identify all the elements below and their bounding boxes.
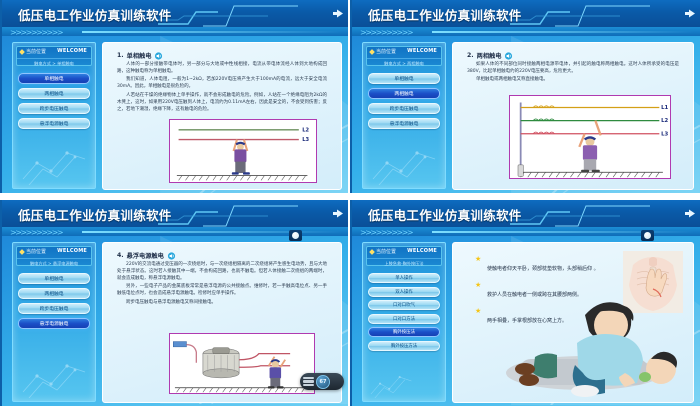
wire-label-l2: L2	[661, 118, 669, 124]
sidebar-item-floating-source[interactable]: 悬浮电源触电	[368, 118, 440, 129]
speaker-icon[interactable]	[154, 52, 163, 60]
section-number: 1.	[117, 52, 124, 59]
step-text: 使触电者仰天平卧，颈部枕垫软物，头部稍后仰 。	[487, 266, 599, 272]
back-arrow-icon[interactable]	[332, 8, 344, 19]
page-title: 低压电工作业仿真训练软件	[368, 5, 522, 24]
app-window-two-phase: 低压电工作业仿真训练软件 >>>>>>>>>> 当前位置	[350, 0, 700, 193]
sidebar-item-single-operator[interactable]: 单人操作	[368, 273, 440, 283]
strip-line-decoration	[82, 231, 342, 233]
power-plug	[173, 342, 186, 347]
app-window-cpr: 低压电工作业仿真训练软件 >>>>>>>>>> 当前位置	[350, 200, 700, 406]
rescuer-figure	[571, 302, 643, 397]
back-arrow-icon[interactable]	[332, 208, 344, 219]
sidebar: 当前位置 WELCOME 上肢急救-胸外按压法 单人操作 双人操作 口对口吹气 …	[362, 242, 446, 402]
sidebar-menu: 单相触电 两相触电 跨步电压触电 悬浮电源触电	[18, 73, 90, 133]
sidebar-menu: 单相触电 两相触电 跨步电压触电 悬浮电源触电	[18, 273, 90, 333]
panel-cell-4: 低压电工作业仿真训练软件 >>>>>>>>>> 当前位置	[350, 200, 700, 413]
sidebar-circuit-decoration	[17, 133, 93, 185]
panel-cell-1: 低压电工作业仿真训练软件 >>>>>>>>>> 当前位置	[0, 0, 350, 200]
header-circuit-lines	[500, 200, 700, 227]
sidebar-item-single-phase[interactable]: 单相触电	[368, 73, 440, 84]
floating-source-diagram	[170, 334, 314, 393]
location-label: 当前位置	[376, 248, 396, 255]
page-title: 低压电工作业仿真训练软件	[18, 205, 172, 224]
sidebar-menu: 单相触电 两相触电 跨步电压触电 悬浮电源触电	[368, 73, 440, 133]
back-arrow-icon[interactable]	[684, 208, 696, 219]
breadcrumb: 触电方式 > 悬浮电源触电	[17, 258, 91, 267]
person-figure	[579, 121, 600, 173]
sidebar: 当前位置 WELCOME 触电方式 > 悬浮电源触电 单相触电 两相触电 跨步电…	[12, 242, 96, 402]
window-header: 低压电工作业仿真训练软件	[2, 200, 348, 227]
wire-label-l1: L1	[661, 105, 669, 111]
location-box: 当前位置 WELCOME 触电方式 > 两相触电	[366, 46, 442, 66]
header-circuit-lines	[148, 0, 348, 27]
sidebar-item-chest-compression-method[interactable]: 胸外按压方法	[368, 341, 440, 351]
welcome-label: WELCOME	[57, 248, 87, 254]
paragraph: 我们知道，人体电阻，一般为1~2kΩ，若加220V电压将产生大于100mA的电流…	[117, 77, 327, 91]
sidebar-item-two-phase[interactable]: 两相触电	[18, 288, 90, 299]
person-figure	[232, 140, 250, 175]
paragraph: 另外，一些电子产品的金属底板常常是悬浮电源的公共接触点。维修时，若一手触高电位点…	[117, 284, 327, 298]
sidebar-item-mouth-to-mouth[interactable]: 口对口吹气	[368, 300, 440, 310]
sidebar-item-chest-compression[interactable]: 胸外按压法	[368, 327, 440, 337]
sidebar-item-two-operator[interactable]: 双人操作	[368, 287, 440, 297]
figure-two-phase: L1 L2 L3	[509, 95, 671, 179]
location-label: 当前位置	[26, 48, 46, 55]
media-control-pill[interactable]: 67	[300, 373, 344, 390]
paragraph: 220V的交流电通过变压器的一次绕组时，与一次绕组相隔离的二次绕组将产生感生电动…	[117, 262, 327, 283]
section-title: 悬浮电源触电	[127, 251, 164, 260]
list-item: ★ 使触电者仰天平卧，颈部枕垫软物，头部稍后仰 。	[475, 255, 625, 274]
location-label: 当前位置	[376, 48, 396, 55]
cpr-demonstration-illustration	[489, 273, 689, 398]
two-phase-diagram: L1 L2 L3	[510, 96, 670, 178]
content-inner: ★ 使触电者仰天平卧，颈部枕垫软物，头部稍后仰 。 ★ 救护人员在触电者一侧或跨…	[457, 247, 689, 398]
sidebar-item-step-voltage[interactable]: 跨步电压触电	[18, 103, 90, 114]
person-figure	[268, 357, 285, 389]
wire-label-l3: L3	[302, 137, 309, 143]
location-row: 当前位置 WELCOME	[17, 47, 91, 57]
transformer	[203, 348, 239, 378]
figure-single-phase: L2 L3	[169, 119, 317, 183]
welcome-label: WELCOME	[407, 48, 437, 54]
star-icon: ★	[475, 282, 481, 288]
back-arrow-icon[interactable]	[684, 8, 696, 19]
breadcrumb: 上肢急救-胸外按压法	[367, 258, 441, 267]
location-box: 当前位置 WELCOME 上肢急救-胸外按压法	[366, 246, 442, 266]
content-panel: 1. 单相触电 人体的一部分接触带电体时，另一部分与大地或中性线相接，电流从带电…	[102, 42, 342, 190]
sidebar-item-mouth-method[interactable]: 口对口方法	[368, 314, 440, 324]
header-decoration	[500, 0, 700, 27]
figure-floating-source	[169, 333, 315, 394]
content-inner: 2. 两相触电 如果人体的不同部位同时接触两相电源带电体，并引起的触电称两相触电…	[457, 47, 689, 185]
speaker-icon[interactable]	[167, 252, 176, 260]
content-panel: ★ 使触电者仰天平卧，颈部枕垫软物，头部稍后仰 。 ★ 救护人员在触电者一侧或跨…	[452, 242, 694, 403]
paragraph: 单相触电或两相触电又称直接触电。	[467, 77, 679, 84]
sidebar-menu: 单人操作 双人操作 口对口吹气 口对口方法 胸外按压法 胸外按压方法	[368, 273, 440, 354]
sidebar-circuit-decoration	[367, 133, 443, 185]
panel-cell-3: 低压电工作业仿真训练软件 >>>>>>>>>> 当前位置	[0, 200, 350, 413]
welcome-label: WELCOME	[57, 48, 87, 54]
paragraph: 人若站在干燥的绝缘物体上单手操作，就不会形成触电的危险。例如，人站在一个绝缘电阻…	[117, 93, 327, 114]
sidebar-item-two-phase[interactable]: 两相触电	[18, 88, 90, 99]
location-row: 当前位置 WELCOME	[367, 47, 441, 57]
screenshot-grid: 低压电工作业仿真训练软件 >>>>>>>>>> 当前位置	[0, 0, 700, 413]
sidebar-item-two-phase[interactable]: 两相触电	[368, 88, 440, 99]
paragraph: 人体的一部分接触带电体时，另一部分与大地或中性线相接，电流从带电体流经人体到大地…	[117, 62, 327, 76]
location-box: 当前位置 WELCOME 触电方式 > 悬浮电源触电	[16, 246, 92, 266]
ground-electrode	[518, 165, 523, 176]
sidebar-item-single-phase[interactable]: 单相触电	[18, 273, 90, 284]
diamond-icon	[19, 249, 25, 255]
diamond-icon	[19, 49, 25, 55]
page-title: 低压电工作业仿真训练软件	[18, 5, 172, 24]
sidebar-item-floating-source[interactable]: 悬浮电源触电	[18, 118, 90, 129]
breadcrumb: 触电方式 > 两相触电	[367, 58, 441, 67]
section-title: 两相触电	[477, 51, 502, 60]
wire-label-l3: L3	[661, 132, 669, 138]
app-window-floating-source: 低压电工作业仿真训练软件 >>>>>>>>>> 当前位置	[0, 200, 348, 406]
chevron-decoration: >>>>>>>>>>	[10, 28, 62, 36]
window-header: 低压电工作业仿真训练软件	[2, 0, 348, 27]
speaker-icon[interactable]	[504, 52, 513, 60]
section-title: 单相触电	[127, 51, 152, 60]
chevron-decoration: >>>>>>>>>>	[10, 228, 62, 236]
strip-line-decoration	[82, 31, 342, 33]
chevron-decoration: >>>>>>>>>>	[360, 228, 412, 236]
sidebar-item-step-voltage[interactable]: 跨步电压触电	[368, 103, 440, 114]
section-number: 2.	[467, 52, 474, 59]
star-icon: ★	[475, 256, 481, 262]
window-header: 低压电工作业仿真训练软件	[352, 0, 700, 27]
header-circuit-lines	[500, 0, 700, 27]
paragraph: 如果人体的不同部位同时接触两相电源带电体，并引起的触电称两相触电。这时人体所承受…	[467, 62, 679, 76]
chevron-decoration: >>>>>>>>>>	[360, 28, 412, 36]
diamond-icon	[369, 249, 375, 255]
sidebar-circuit-decoration	[367, 364, 417, 398]
location-row: 当前位置 WELCOME	[17, 247, 91, 257]
section-number: 4.	[117, 252, 124, 259]
list-bars-icon	[303, 377, 314, 386]
content-panel: 2. 两相触电 如果人体的不同部位同时接触两相电源带电体，并引起的触电称两相触电…	[452, 42, 694, 190]
header-decoration	[148, 0, 348, 27]
sidebar: 当前位置 WELCOME 触电方式 > 单相触电 单相触电 两相触电 跨步电压触…	[12, 42, 96, 189]
strip-line-decoration	[432, 231, 694, 233]
section-title-row: 1. 单相触电	[117, 51, 337, 60]
star-icon: ★	[475, 308, 481, 314]
header-decoration	[148, 200, 348, 227]
content-inner: 1. 单相触电 人体的一部分接触带电体时，另一部分与大地或中性线相接，电流从带电…	[107, 47, 337, 185]
header-circuit-lines	[148, 200, 348, 227]
app-window-single-phase: 低压电工作业仿真训练软件 >>>>>>>>>> 当前位置	[0, 0, 348, 193]
strip-line-decoration	[432, 31, 694, 33]
paragraph: 跨步电压触电与悬浮电源触电又称间接触电。	[117, 300, 327, 307]
location-box: 当前位置 WELCOME 触电方式 > 单相触电	[16, 46, 92, 66]
header-decoration	[500, 200, 700, 227]
header-strip: >>>>>>>>>>	[352, 27, 700, 36]
sidebar-item-floating-source[interactable]: 悬浮电源触电	[18, 318, 90, 329]
header-strip: >>>>>>>>>>	[2, 27, 348, 36]
diamond-icon	[369, 49, 375, 55]
panel-cell-2: 低压电工作业仿真训练软件 >>>>>>>>>> 当前位置	[350, 0, 700, 200]
breadcrumb: 触电方式 > 单相触电	[17, 58, 91, 67]
sidebar-circuit-decoration	[17, 346, 93, 398]
sidebar-item-single-phase[interactable]: 单相触电	[18, 73, 90, 84]
single-phase-diagram: L2 L3	[170, 120, 316, 182]
wire-label-l2: L2	[302, 128, 309, 134]
location-row: 当前位置 WELCOME	[367, 247, 441, 257]
welcome-label: WELCOME	[407, 248, 437, 254]
page-title: 低压电工作业仿真训练软件	[368, 205, 522, 224]
section-title-row: 4. 悬浮电源触电	[117, 251, 337, 260]
progress-knob[interactable]: 67	[316, 375, 330, 389]
sidebar: 当前位置 WELCOME 触电方式 > 两相触电 单相触电 两相触电 跨步电压触…	[362, 42, 446, 189]
location-label: 当前位置	[26, 248, 46, 255]
window-header: 低压电工作业仿真训练软件	[352, 200, 700, 227]
section-title-row: 2. 两相触电	[467, 51, 689, 60]
sidebar-item-step-voltage[interactable]: 跨步电压触电	[18, 303, 90, 314]
